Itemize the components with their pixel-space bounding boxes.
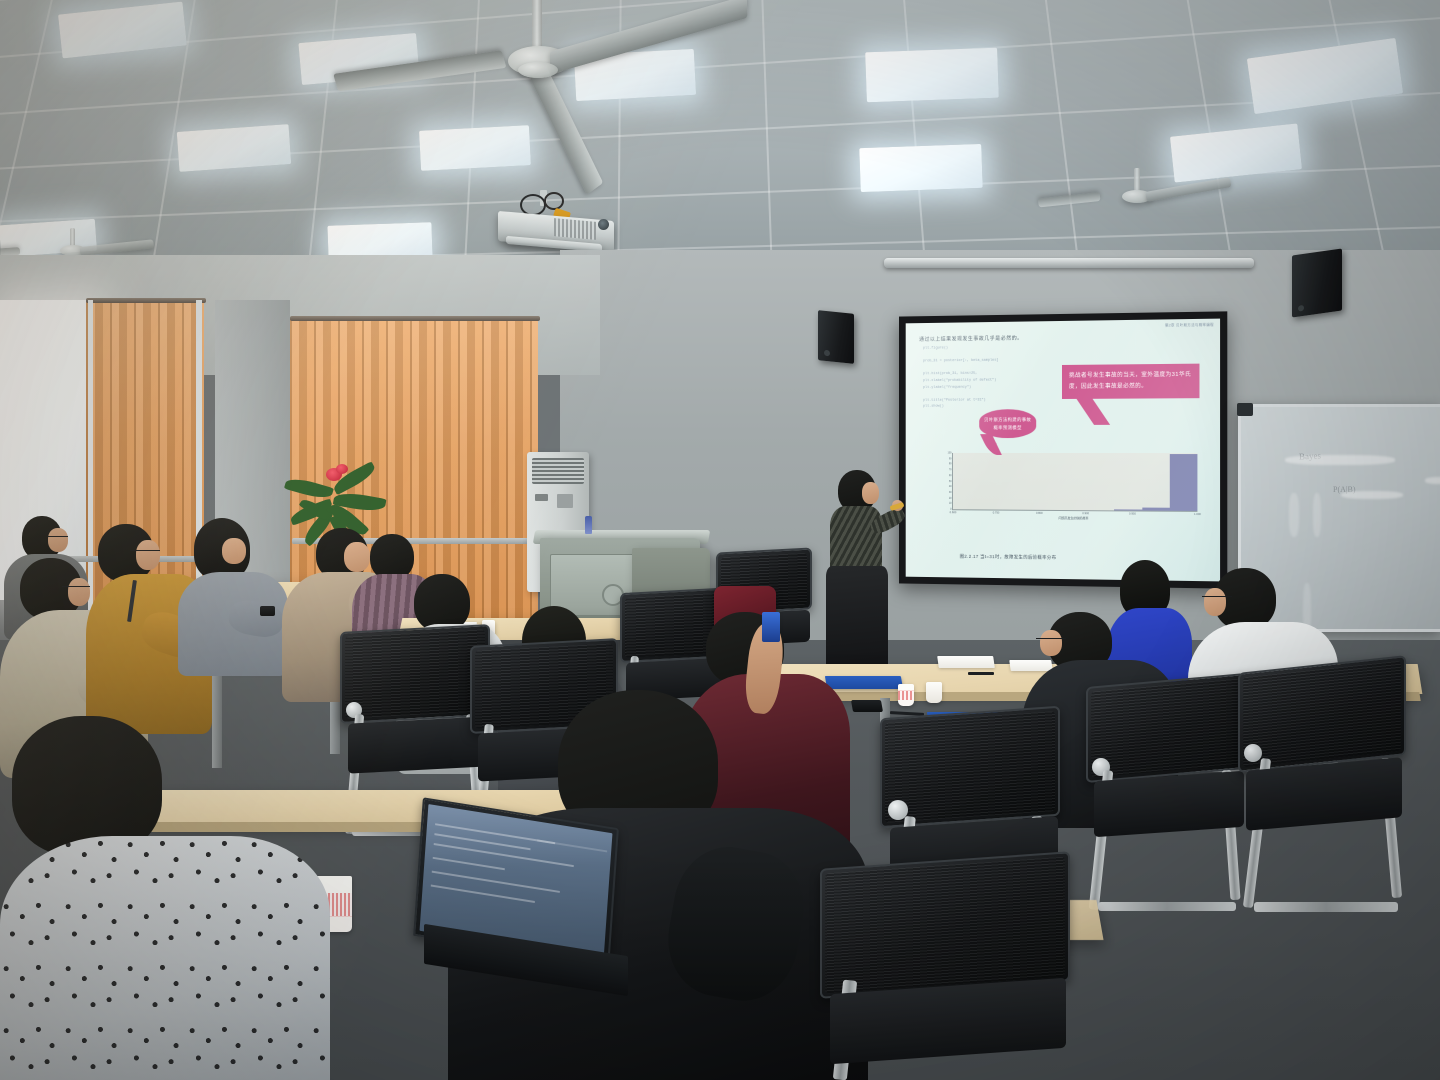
chart-y-tick: 80: [949, 463, 952, 466]
glasses-icon: [130, 550, 160, 553]
chart-y-tick: 70: [949, 468, 952, 471]
chart-bar: [1114, 509, 1142, 510]
chart-x-tick: 0.700: [993, 511, 1000, 514]
mobile-phone[interactable]: [260, 606, 275, 616]
ac-label: [557, 494, 573, 508]
glasses-icon: [48, 536, 68, 539]
whiteboard-clip: [1237, 403, 1253, 416]
glasses-icon: [1036, 638, 1066, 641]
chair-right-1[interactable]: [1086, 680, 1246, 930]
figure-caption: 图2.2.17 当t=31时，故障发生的后验概率分布: [960, 554, 1057, 561]
chair-right-2[interactable]: [1238, 664, 1406, 934]
chart-y-tick: 40: [949, 485, 952, 488]
ceiling-fan-rear: [1090, 168, 1240, 218]
chart-plot-area: 问题高发生的缺陷概率 0.6000.7000.8000.9000.9501.00…: [952, 453, 1197, 512]
ceiling-light-panel: [859, 144, 982, 192]
polkadot-blouse: [0, 836, 330, 1080]
wall-speaker-right: [1292, 248, 1342, 317]
laptop[interactable]: [418, 812, 648, 992]
chart-x-axis-label: 问题高发生的缺陷概率: [1059, 516, 1089, 520]
wall-speaker-left: [818, 310, 854, 364]
ceiling-light-panel: [865, 48, 999, 103]
chair-front-center[interactable]: [820, 860, 1080, 1080]
ceiling-fan: [480, 0, 780, 110]
chart-y-tick: 0: [950, 508, 951, 511]
ac-vent: [532, 458, 584, 484]
slide-heading: 通过以上结果发现发生事故几乎是必然的。: [919, 335, 1023, 343]
slide-callout-small: 贝叶斯方法构建的事故概率预测模型: [979, 409, 1036, 438]
chart-x-tick: 0.800: [1036, 511, 1043, 514]
presenter-torso: [830, 506, 882, 572]
attendee-front-polkadot: [0, 716, 330, 1080]
ac-badge: [535, 494, 548, 501]
paper-sheet: [937, 656, 995, 668]
mobile-phone[interactable]: [851, 700, 883, 712]
slide-callout-main: 挑战者号发生事故的当天，室外温度为31华氏度，因此发生事故是必然的。: [1062, 364, 1199, 399]
ceiling-light-panel: [419, 125, 531, 171]
slide-chart: 问题高发生的缺陷概率 0.6000.7000.8000.9000.9501.00…: [931, 453, 1198, 526]
red-flower: [336, 464, 348, 474]
chart-x-tick: 0.950: [1129, 512, 1136, 515]
fan-blade: [550, 0, 748, 74]
chart-y-tick: 100: [948, 451, 952, 454]
classroom-scene: 第2章 贝叶斯方法与概率编程 通过以上结果发现发生事故几乎是必然的。 plt.f…: [0, 0, 1440, 1080]
chart-x-tick: 0.900: [1082, 512, 1089, 515]
projection-screen-roller: [884, 258, 1254, 268]
chart-y-tick: 30: [949, 491, 952, 494]
ceiling-projector: [498, 190, 643, 258]
curtain-rail: [86, 298, 206, 303]
curtain-rail: [290, 316, 540, 321]
slide-top-note: 第2章 贝叶斯方法与概率编程: [1165, 322, 1214, 328]
chart-y-tick: 60: [949, 474, 952, 477]
projection-screen: 第2章 贝叶斯方法与概率编程 通过以上结果发现发生事故几乎是必然的。 plt.f…: [899, 311, 1227, 588]
chart-bar: [1142, 507, 1170, 511]
pen: [968, 672, 994, 675]
chart-bar: [1170, 454, 1198, 511]
chart-y-tick: 90: [949, 457, 952, 460]
chart-y-tick: 10: [949, 502, 952, 505]
paper-cup-checked: [898, 684, 914, 706]
paper-cup: [926, 682, 942, 703]
projector-cable: [544, 192, 564, 210]
attendee-left-woman-grey: [178, 518, 288, 668]
presentation-slide: 第2章 贝叶斯方法与概率编程 通过以上结果发现发生事故几乎是必然的。 plt.f…: [906, 319, 1220, 582]
ceiling-light-panel: [177, 124, 292, 172]
chart-y-tick: 50: [949, 480, 952, 483]
chart-x-tick: 1.000: [1194, 512, 1201, 515]
projector-lens: [598, 219, 609, 230]
chart-y-tick: 20: [949, 496, 952, 499]
mobile-phone[interactable]: [762, 612, 780, 642]
chart-x-tick: 0.600: [950, 511, 957, 514]
glasses-icon: [1202, 596, 1232, 599]
presenter-face: [862, 482, 879, 504]
water-bottle: [585, 516, 592, 534]
